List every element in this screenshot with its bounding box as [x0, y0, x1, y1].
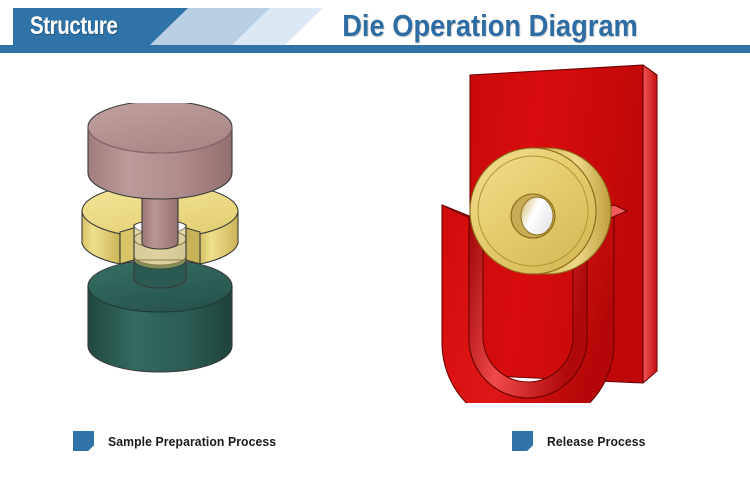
figure-release-plate	[430, 53, 720, 403]
page-title: Die Operation Diagram	[283, 6, 697, 46]
header-underline-bar	[0, 45, 750, 53]
header-tab-label: Structure	[30, 10, 145, 43]
disc-bore-hole	[511, 194, 555, 238]
caption-marker-icon	[512, 431, 533, 451]
die-assembly-svg	[60, 103, 340, 403]
caption-sample-preparation: Sample Preparation Process	[73, 431, 287, 451]
plate-side-edge	[643, 65, 657, 383]
slide-page: Structure Die Operation Diagram	[0, 0, 750, 483]
punch-head-cylinder	[88, 103, 232, 199]
caption-marker-icon	[73, 431, 94, 451]
release-plate-svg	[430, 53, 720, 403]
caption-label: Sample Preparation Process	[108, 434, 276, 449]
caption-release-process: Release Process	[512, 431, 652, 451]
page-header: Structure Die Operation Diagram	[0, 0, 750, 52]
figure-die-assembly	[60, 103, 340, 403]
figures-area	[0, 53, 750, 423]
caption-label: Release Process	[547, 434, 646, 449]
